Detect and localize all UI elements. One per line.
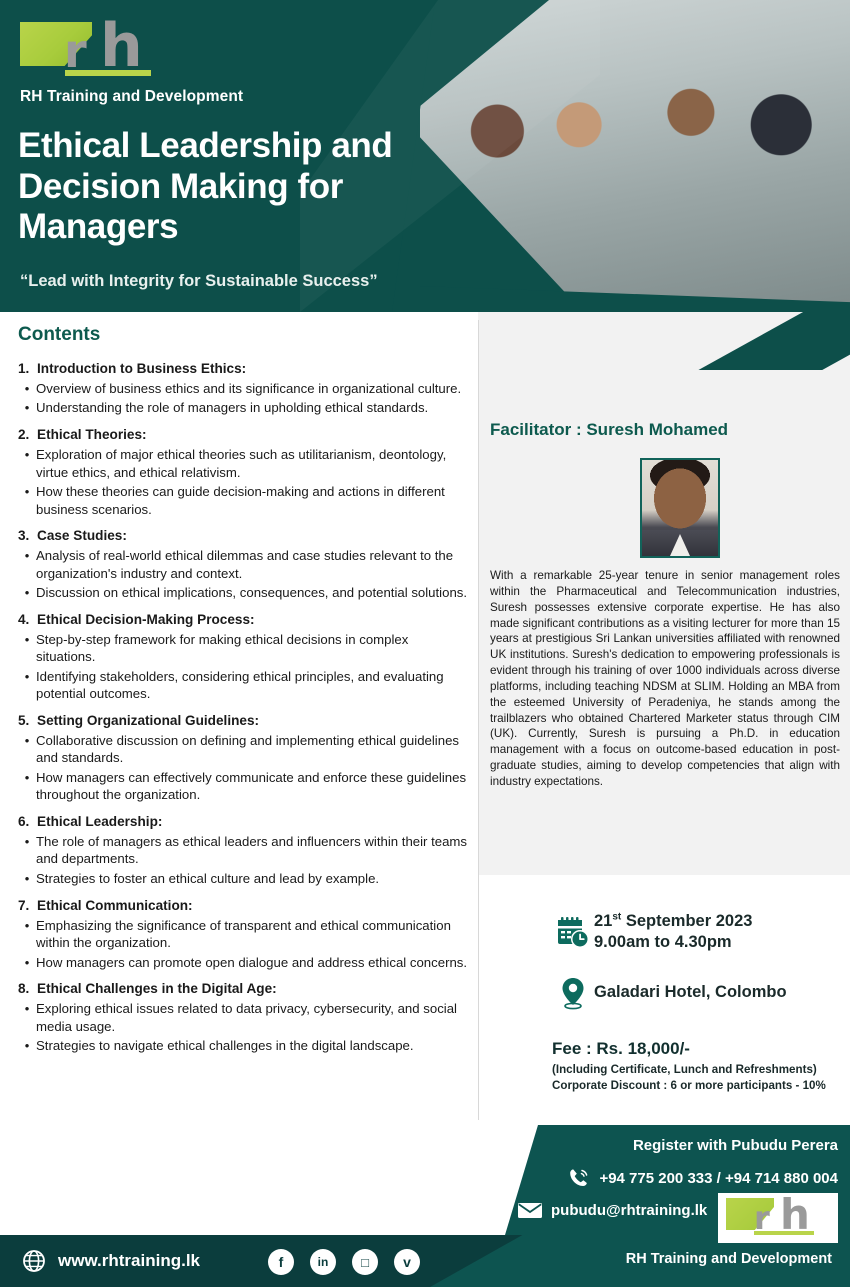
facilitator-heading: Facilitator : Suresh Mohamed — [490, 420, 728, 440]
brand-name: RH Training and Development — [20, 88, 243, 106]
contents-bullet-item: •Collaborative discussion on defining an… — [18, 731, 470, 768]
bullet-dot-icon: • — [18, 1037, 36, 1055]
contents-bullet-text: Identifying stakeholders, considering et… — [36, 668, 470, 703]
bullet-dot-icon: • — [18, 954, 36, 972]
bullet-dot-icon: • — [18, 917, 36, 952]
contents-section: Contents 1.Introduction to Business Ethi… — [18, 324, 470, 1062]
register-phone-text: +94 775 200 333 / +94 714 880 004 — [599, 1170, 838, 1187]
logo-letter-h: h — [100, 16, 143, 76]
contents-topic-heading: 8.Ethical Challenges in the Digital Age: — [18, 978, 470, 999]
footer-website-link[interactable]: www.rhtraining.lk — [22, 1249, 200, 1273]
contents-bullet-text: How these theories can guide decision-ma… — [36, 483, 470, 518]
contents-bullet-text: Strategies to foster an ethical culture … — [36, 870, 470, 888]
facilitator-bio: With a remarkable 25-year tenure in seni… — [490, 568, 840, 790]
contents-topic-heading: 1.Introduction to Business Ethics: — [18, 358, 470, 379]
contents-topic-heading: 6.Ethical Leadership: — [18, 811, 470, 832]
social-links: fin□ᴠ — [268, 1249, 420, 1275]
contents-topic-number: 2. — [18, 426, 37, 444]
contents-bullet-text: Step-by-step framework for making ethica… — [36, 631, 470, 666]
register-email-text: pubudu@rhtraining.lk — [551, 1202, 707, 1219]
contents-topic: 7.Ethical Communication:•Emphasizing the… — [18, 895, 470, 973]
contents-bullet-text: Discussion on ethical implications, cons… — [36, 584, 470, 602]
contents-bullet-list: •Exploration of major ethical theories s… — [18, 445, 470, 519]
contents-bullet-item: •Strategies to navigate ethical challeng… — [18, 1036, 470, 1056]
linkedin-icon[interactable]: in — [310, 1249, 336, 1275]
header-banner: r h RH Training and Development Ethical … — [0, 0, 850, 312]
event-date: 21st September 2023 — [594, 912, 752, 930]
contents-topic-heading: 3.Case Studies: — [18, 525, 470, 546]
contents-topic-title: Setting Organizational Guidelines: — [37, 712, 259, 730]
facilitator-avatar — [640, 458, 720, 558]
contents-bullet-text: Exploration of major ethical theories su… — [36, 446, 470, 481]
bullet-dot-icon: • — [18, 631, 36, 666]
phone-icon — [567, 1166, 591, 1190]
register-logo-letter-r: r — [754, 1202, 770, 1234]
contents-bullet-text: How managers can effectively communicate… — [36, 769, 470, 804]
contents-topic-heading: 4.Ethical Decision-Making Process: — [18, 609, 470, 630]
contents-topic-heading: 7.Ethical Communication: — [18, 895, 470, 916]
contents-topic: 1.Introduction to Business Ethics:•Overv… — [18, 358, 470, 418]
contents-bullet-text: The role of managers as ethical leaders … — [36, 833, 470, 868]
column-divider — [478, 320, 479, 1120]
contents-bullet-list: •Analysis of real-world ethical dilemmas… — [18, 546, 470, 603]
logo-letter-r: r — [64, 28, 87, 74]
fee-corporate-discount: Corporate Discount : 6 or more participa… — [552, 1078, 842, 1094]
date-time-row: 21st September 2023 9.00am to 4.30pm — [552, 910, 752, 954]
contents-topic-title: Ethical Theories: — [37, 426, 147, 444]
contents-topic-number: 6. — [18, 813, 37, 831]
contents-topic: 3.Case Studies:•Analysis of real-world e… — [18, 525, 470, 603]
envelope-icon — [517, 1200, 543, 1220]
register-logo-letter-h: h — [780, 1194, 810, 1236]
rh-logo: r h — [20, 18, 152, 80]
contents-topic-title: Ethical Decision-Making Process: — [37, 611, 255, 629]
contents-topic-list: 1.Introduction to Business Ethics:•Overv… — [18, 358, 470, 1056]
date-time-text: 21st September 2023 9.00am to 4.30pm — [594, 910, 752, 954]
contents-bullet-item: •How managers can effectively communicat… — [18, 768, 470, 805]
bullet-dot-icon: • — [18, 769, 36, 804]
contents-topic-heading: 5.Setting Organizational Guidelines: — [18, 710, 470, 731]
globe-icon — [22, 1249, 46, 1273]
panel-corner-chevron — [540, 312, 850, 370]
bullet-dot-icon: • — [18, 732, 36, 767]
flyer-page: r h RH Training and Development Ethical … — [0, 0, 850, 1287]
contents-bullet-item: •Exploration of major ethical theories s… — [18, 445, 470, 482]
contents-topic: 4.Ethical Decision-Making Process:•Step-… — [18, 609, 470, 704]
contents-topic: 5.Setting Organizational Guidelines:•Col… — [18, 710, 470, 805]
contents-topic-number: 1. — [18, 360, 37, 378]
logo-underline-bar — [65, 70, 151, 76]
location-pin-icon — [552, 976, 594, 1010]
contents-topic-title: Ethical Challenges in the Digital Age: — [37, 980, 277, 998]
contents-bullet-text: Strategies to navigate ethical challenge… — [36, 1037, 470, 1055]
contents-topic-number: 8. — [18, 980, 37, 998]
venue-text: Galadari Hotel, Colombo — [594, 982, 787, 1004]
bullet-dot-icon: • — [18, 399, 36, 417]
contents-bullet-item: •How managers can promote open dialogue … — [18, 953, 470, 973]
contents-bullet-item: •Step-by-step framework for making ethic… — [18, 630, 470, 667]
event-time: 9.00am to 4.30pm — [594, 933, 732, 951]
bullet-dot-icon: • — [18, 483, 36, 518]
contents-bullet-text: Overview of business ethics and its sign… — [36, 380, 470, 398]
register-logo-underline-bar — [754, 1231, 814, 1235]
fee-inclusions: (Including Certificate, Lunch and Refres… — [552, 1062, 842, 1078]
contents-topic: 8.Ethical Challenges in the Digital Age:… — [18, 978, 470, 1056]
contents-bullet-text: Emphasizing the significance of transpar… — [36, 917, 470, 952]
bullet-dot-icon: • — [18, 584, 36, 602]
register-phone-row[interactable]: +94 775 200 333 / +94 714 880 004 — [567, 1166, 838, 1190]
contents-bullet-item: •The role of managers as ethical leaders… — [18, 832, 470, 869]
contents-bullet-list: •Exploring ethical issues related to dat… — [18, 999, 470, 1056]
contents-bullet-item: •Analysis of real-world ethical dilemmas… — [18, 546, 470, 583]
instagram-icon[interactable]: □ — [352, 1249, 378, 1275]
tagline: “Lead with Integrity for Sustainable Suc… — [20, 272, 378, 291]
bullet-dot-icon: • — [18, 1000, 36, 1035]
contents-bullet-list: •Step-by-step framework for making ethic… — [18, 630, 470, 704]
register-heading: Register with Pubudu Perera — [633, 1137, 838, 1154]
header-photo — [420, 0, 850, 312]
page-title: Ethical Leadership and Decision Making f… — [18, 126, 438, 248]
register-rh-logo: r h — [718, 1193, 838, 1243]
calendar-clock-icon — [552, 914, 594, 950]
contents-topic-title: Ethical Communication: — [37, 897, 193, 915]
venue-row: Galadari Hotel, Colombo — [552, 976, 787, 1010]
contents-bullet-text: Analysis of real-world ethical dilemmas … — [36, 547, 470, 582]
bullet-dot-icon: • — [18, 547, 36, 582]
register-email-row[interactable]: pubudu@rhtraining.lk — [517, 1200, 707, 1220]
facebook-icon[interactable]: f — [268, 1249, 294, 1275]
fee-block: Fee : Rs. 18,000/- (Including Certificat… — [552, 1039, 842, 1095]
footer-brand-name: RH Training and Development — [626, 1251, 832, 1267]
bullet-dot-icon: • — [18, 380, 36, 398]
contents-topic: 6.Ethical Leadership:•The role of manage… — [18, 811, 470, 889]
bullet-dot-icon: • — [18, 668, 36, 703]
contents-bullet-list: •Collaborative discussion on defining an… — [18, 731, 470, 805]
contents-heading: Contents — [18, 324, 470, 346]
contents-bullet-item: •Overview of business ethics and its sig… — [18, 379, 470, 399]
contents-bullet-text: How managers can promote open dialogue a… — [36, 954, 470, 972]
contents-bullet-text: Collaborative discussion on defining and… — [36, 732, 470, 767]
fee-amount: Fee : Rs. 18,000/- — [552, 1039, 842, 1059]
contents-bullet-list: •The role of managers as ethical leaders… — [18, 832, 470, 889]
twitter-icon[interactable]: ᴠ — [394, 1249, 420, 1275]
contents-bullet-item: •How these theories can guide decision-m… — [18, 482, 470, 519]
contents-topic-number: 5. — [18, 712, 37, 730]
contents-bullet-item: •Emphasizing the significance of transpa… — [18, 916, 470, 953]
contents-topic: 2.Ethical Theories:•Exploration of major… — [18, 424, 470, 519]
bullet-dot-icon: • — [18, 446, 36, 481]
contents-bullet-text: Exploring ethical issues related to data… — [36, 1000, 470, 1035]
contents-bullet-list: •Overview of business ethics and its sig… — [18, 379, 470, 418]
contents-topic-title: Ethical Leadership: — [37, 813, 162, 831]
contents-topic-title: Introduction to Business Ethics: — [37, 360, 246, 378]
contents-topic-number: 7. — [18, 897, 37, 915]
contents-bullet-item: •Discussion on ethical implications, con… — [18, 583, 470, 603]
contents-bullet-item: •Understanding the role of managers in u… — [18, 398, 470, 418]
footer-website-text: www.rhtraining.lk — [58, 1251, 200, 1271]
contents-topic-heading: 2.Ethical Theories: — [18, 424, 470, 445]
contents-topic-number: 3. — [18, 527, 37, 545]
contents-bullet-list: •Emphasizing the significance of transpa… — [18, 916, 470, 973]
bullet-dot-icon: • — [18, 870, 36, 888]
contents-bullet-item: •Exploring ethical issues related to dat… — [18, 999, 470, 1036]
contents-topic-number: 4. — [18, 611, 37, 629]
contents-bullet-item: •Strategies to foster an ethical culture… — [18, 869, 470, 889]
bullet-dot-icon: • — [18, 833, 36, 868]
contents-bullet-text: Understanding the role of managers in up… — [36, 399, 470, 417]
contents-topic-title: Case Studies: — [37, 527, 127, 545]
contents-bullet-item: •Identifying stakeholders, considering e… — [18, 667, 470, 704]
